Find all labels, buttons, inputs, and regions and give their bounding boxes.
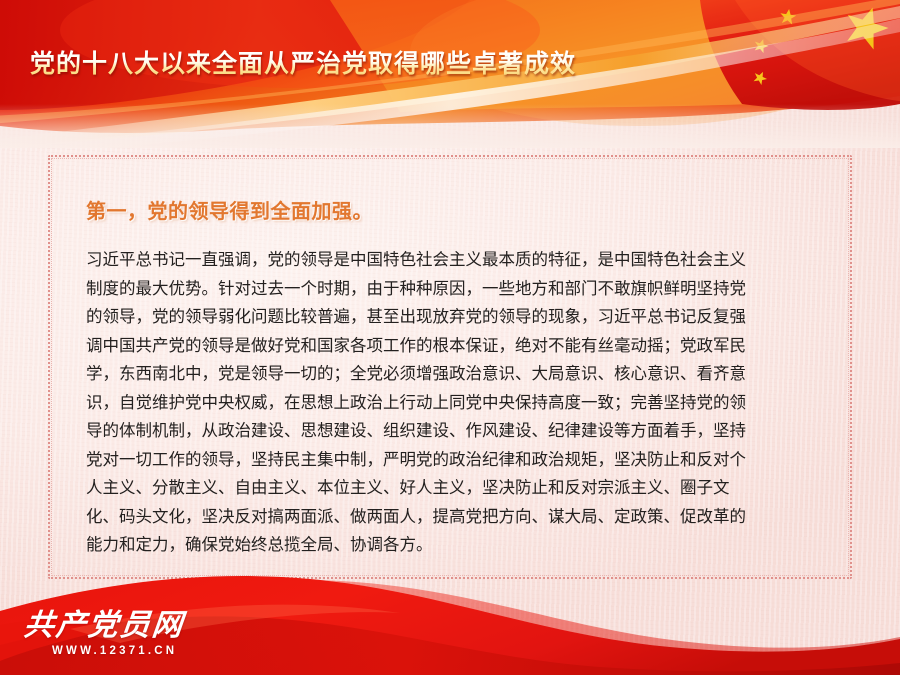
body-line: 制度的最大优势。针对过去一个时期，由于种种原因，一些地方和部门不敢旗帜鲜明坚持党 (86, 275, 822, 304)
card-content: 第一，党的领导得到全面加强。 习近平总书记一直强调，党的领导是中国特色社会主义最… (48, 155, 852, 579)
body-line: 的领导，党的领导弱化问题比较普遍，甚至出现放弃党的领导的现象，习近平总书记反复强 (86, 303, 822, 332)
footer-banner: 共产党员网 WWW.12371.CN (0, 565, 900, 675)
body-line: 识，自觉维护党中央权威，在思想上政治上行动上同党中央保持高度一致；完善坚持党的领 (86, 389, 822, 418)
body-line: 化、码头文化，坚决反对搞两面派、做两面人，提高党把方向、谋大局、定政策、促改革的 (86, 503, 822, 532)
body-line: 能力和定力，确保党始终总揽全局、协调各方。 (86, 531, 822, 560)
body-line: 导的体制机制，从政治建设、思想建设、组织建设、作风建设、纪律建设等方面着手，坚持 (86, 417, 822, 446)
body-line: 党对一切工作的领导，坚持民主集中制，严明党的政治纪律和政治规矩，坚决防止和反对个 (86, 446, 822, 475)
body-text: 习近平总书记一直强调，党的领导是中国特色社会主义最本质的特征，是中国特色社会主义… (86, 246, 822, 560)
section-heading: 第一，党的领导得到全面加强。 (86, 195, 822, 224)
body-line: 调中国共产党的领导是做好党和国家各项工作的根本保证，绝对不能有丝毫动摇；党政军民 (86, 332, 822, 361)
body-line: 人主义、分散主义、自由主义、本位主义、好人主义，坚决防止和反对宗派主义、圈子文 (86, 474, 822, 503)
logo-text: 共产党员网 (22, 609, 186, 643)
body-line: 学，东西南北中，党是领导一切的；全党必须增强政治意识、大局意识、核心意识、看齐意 (86, 360, 822, 389)
page-title: 党的十八大以来全面从严治党取得哪些卓著成效 (30, 49, 576, 79)
logo-url: WWW.12371.CN (52, 645, 184, 657)
body-line: 习近平总书记一直强调，党的领导是中国特色社会主义最本质的特征，是中国特色社会主义 (86, 246, 822, 275)
site-logo: 共产党员网 WWW.12371.CN (24, 609, 184, 657)
content-card: 第一，党的领导得到全面加强。 习近平总书记一直强调，党的领导是中国特色社会主义最… (48, 155, 852, 579)
poster-page: 党的十八大以来全面从严治党取得哪些卓著成效 第一，党的领导得到全面加强。 习近平… (0, 0, 900, 675)
header-banner: 党的十八大以来全面从严治党取得哪些卓著成效 (0, 0, 900, 148)
